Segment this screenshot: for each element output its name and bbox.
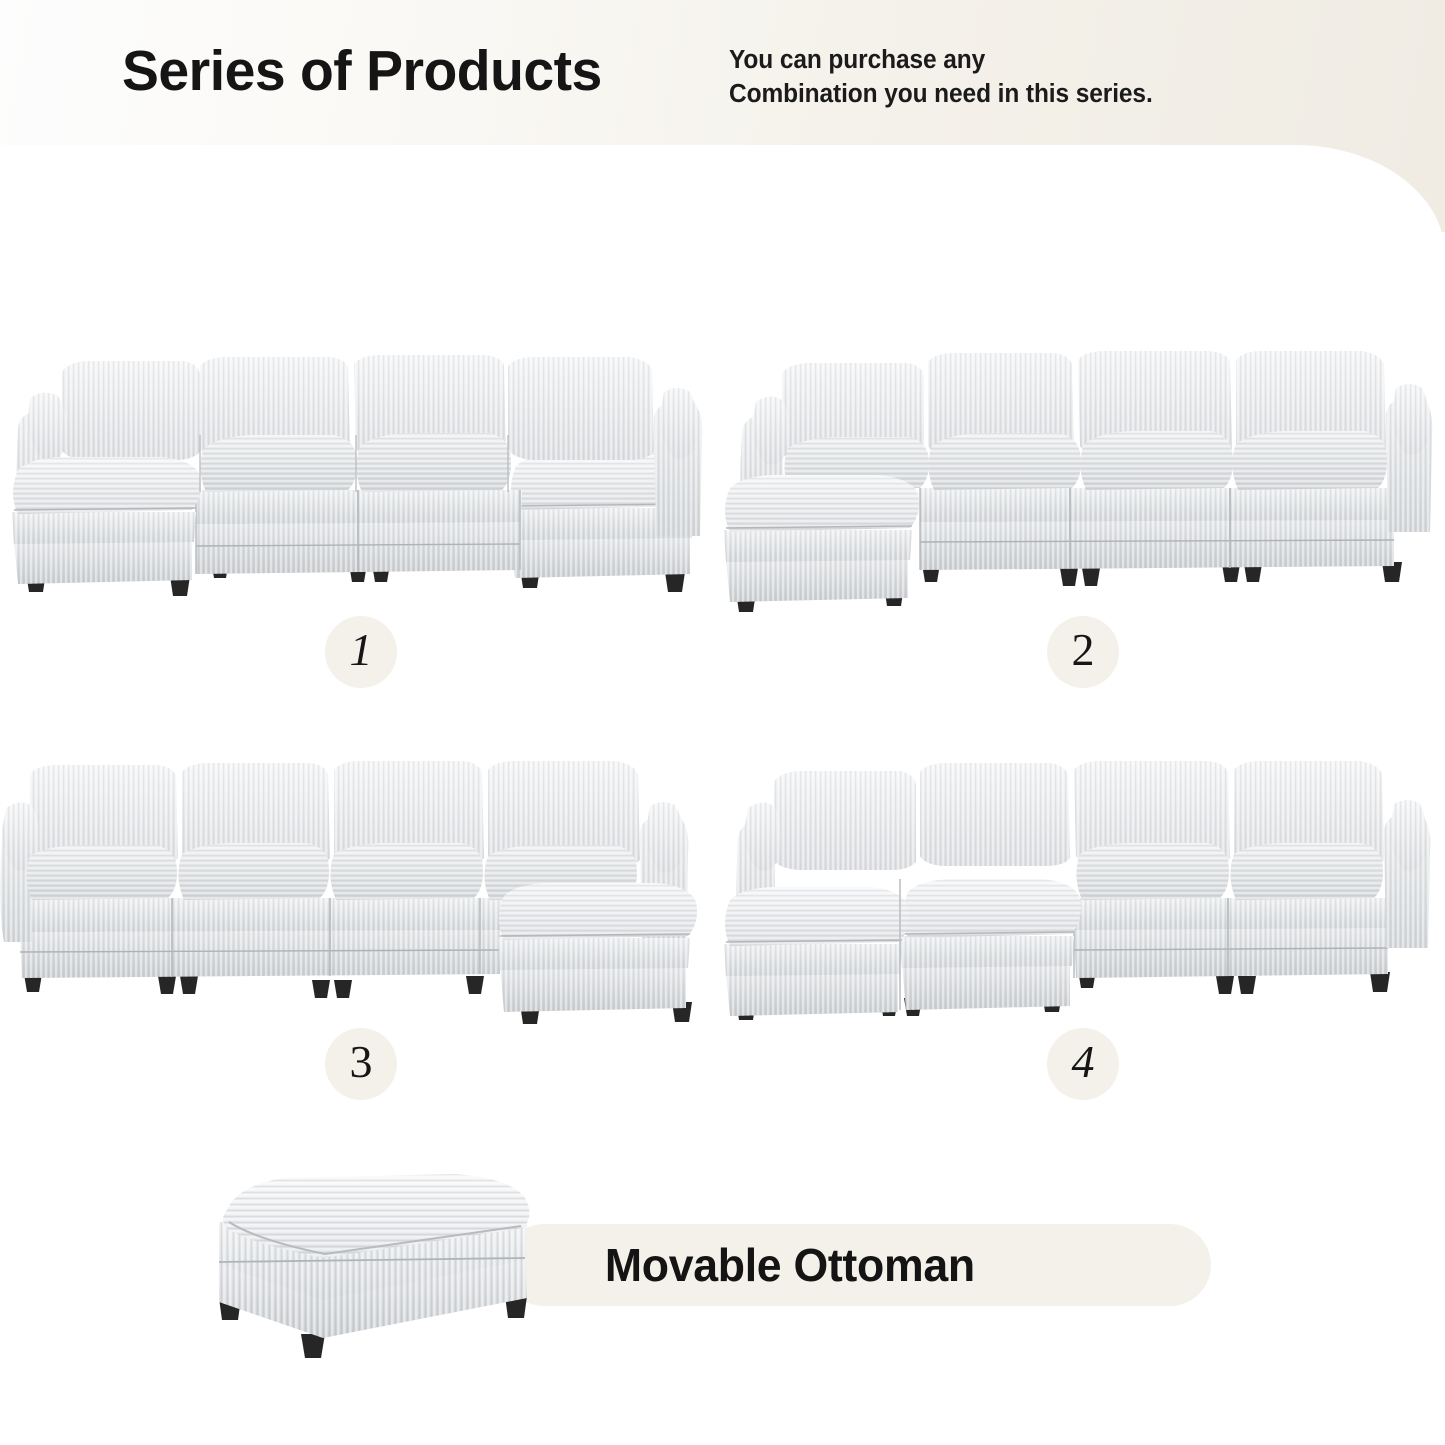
page-subtitle: You can purchase any Combination you nee… <box>729 44 1153 112</box>
movable-ottoman-section: Movable Ottoman <box>0 1165 1445 1395</box>
sofa-illustration-2 <box>722 340 1444 608</box>
movable-ottoman-illustration <box>205 1170 545 1370</box>
lounge-module-left-inner-4 <box>900 879 1081 1010</box>
sofa-illustration-1 <box>0 340 722 608</box>
infographic-page: Series of Products You can purchase any … <box>0 0 1445 1445</box>
movable-ottoman-pill: Movable Ottoman <box>503 1224 1211 1306</box>
header: Series of Products You can purchase any … <box>0 0 1445 145</box>
product-badge-2: 2 <box>1047 616 1119 688</box>
product-item-2[interactable]: 2 <box>722 340 1444 750</box>
movable-ottoman-label: Movable Ottoman <box>503 1238 975 1292</box>
sofa-backrest-1 <box>62 355 654 460</box>
product-item-4[interactable]: 4 <box>722 752 1444 1162</box>
sofa-illustration-4 <box>722 752 1444 1020</box>
badge-number: 3 <box>350 1039 373 1085</box>
product-item-1[interactable]: 1 <box>0 340 722 750</box>
sofa-base-1 <box>196 490 522 574</box>
product-badge-1: 1 <box>325 616 397 688</box>
sofa-base-4 <box>1074 898 1390 978</box>
badge-number: 4 <box>1072 1039 1095 1085</box>
sofa-illustration-3 <box>0 752 722 1020</box>
sofa-base-3 <box>20 898 502 978</box>
page-title: Series of Products <box>122 38 602 104</box>
sofa-base-2 <box>920 488 1396 570</box>
lounge-module-left-outer-4 <box>724 887 909 1016</box>
ottoman-left-2 <box>724 475 919 602</box>
ottoman-left-1 <box>12 457 201 584</box>
product-badge-3: 3 <box>325 1028 397 1100</box>
badge-number: 2 <box>1072 627 1095 673</box>
product-item-3[interactable]: 3 <box>0 752 722 1162</box>
ottoman-right-3 <box>498 883 697 1012</box>
subtitle-line-2: Combination you need in this series. <box>729 78 1153 112</box>
product-badge-4: 4 <box>1047 1028 1119 1100</box>
subtitle-line-1: You can purchase any <box>729 44 1153 78</box>
product-grid: 1 <box>0 340 1445 1170</box>
badge-number: 1 <box>350 627 373 673</box>
